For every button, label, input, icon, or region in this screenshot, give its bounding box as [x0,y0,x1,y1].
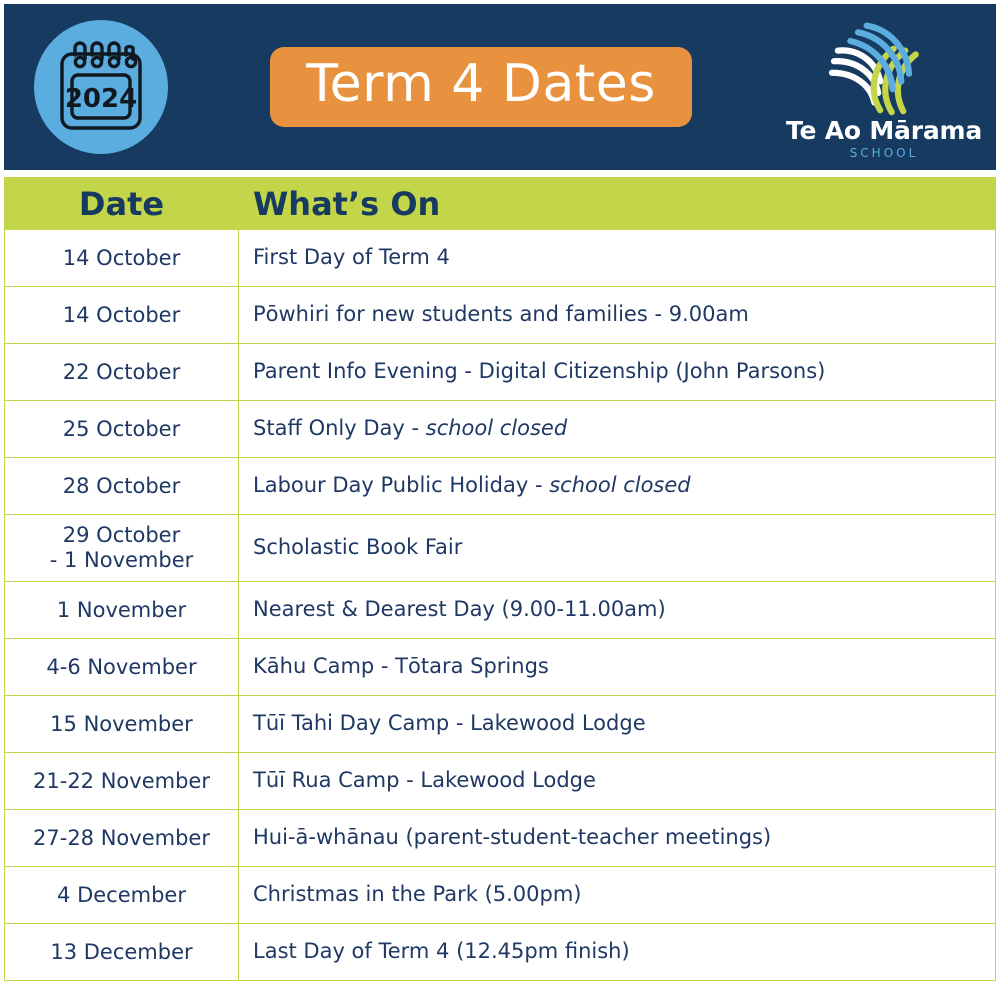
cell-date: 15 November [5,696,239,753]
cell-whats-on: Pōwhiri for new students and families - … [239,287,996,344]
cell-whats-on: Labour Day Public Holiday - school close… [239,458,996,515]
cell-whats-on: Scholastic Book Fair [239,515,996,582]
school-name: Te Ao Mārama [786,118,982,143]
calendar-2024-icon: 2024 [34,20,168,154]
cell-date: 28 October [5,458,239,515]
cell-whats-on: Hui-ā-whānau (parent-student-teacher mee… [239,810,996,867]
table-row: 22 OctoberParent Info Evening - Digital … [5,344,996,401]
poster-header: 2024 Term 4 Dates [4,4,996,170]
table-header-row: Date What’s On [5,178,996,230]
cell-date: 21-22 November [5,753,239,810]
table-row: 14 OctoberFirst Day of Term 4 [5,230,996,287]
cell-date: 13 December [5,924,239,981]
cell-whats-on: Tūī Rua Camp - Lakewood Lodge [239,753,996,810]
cell-date: 14 October [5,230,239,287]
koru-logo-icon [826,16,942,116]
table-row: 21-22 NovemberTūī Rua Camp - Lakewood Lo… [5,753,996,810]
table-row: 29 October- 1 NovemberScholastic Book Fa… [5,515,996,582]
cell-whats-on: Staff Only Day - school closed [239,401,996,458]
calendar-year-label: 2024 [65,84,137,114]
term-dates-table: Date What’s On 14 OctoberFirst Day of Te… [4,177,996,981]
cell-date: 29 October- 1 November [5,515,239,582]
cell-date: 27-28 November [5,810,239,867]
table-row: 14 OctoberPōwhiri for new students and f… [5,287,996,344]
column-header-date: Date [5,178,239,230]
table-body: 14 OctoberFirst Day of Term 414 OctoberP… [5,230,996,981]
term-dates-poster: 2024 Term 4 Dates [0,0,1000,864]
cell-date: 25 October [5,401,239,458]
cell-whats-on: Nearest & Dearest Day (9.00-11.00am) [239,582,996,639]
poster-title-pill: Term 4 Dates [270,47,692,128]
school-logo: Te Ao Mārama SCHOOL [794,16,974,159]
cell-whats-on: Last Day of Term 4 (12.45pm finish) [239,924,996,981]
cell-note: school closed [426,416,567,440]
cell-date: 1 November [5,582,239,639]
cell-date: 22 October [5,344,239,401]
cell-whats-on: Christmas in the Park (5.00pm) [239,867,996,924]
cell-whats-on: Parent Info Evening - Digital Citizenshi… [239,344,996,401]
table-row: 1 NovemberNearest & Dearest Day (9.00-11… [5,582,996,639]
column-header-whats-on: What’s On [239,178,996,230]
calendar-glyph: 2024 [53,37,149,137]
table-row: 28 OctoberLabour Day Public Holiday - sc… [5,458,996,515]
cell-date: 4-6 November [5,639,239,696]
cell-date: 14 October [5,287,239,344]
cell-whats-on: First Day of Term 4 [239,230,996,287]
page-title: Term 4 Dates [306,57,656,112]
cell-whats-on: Kāhu Camp - Tōtara Springs [239,639,996,696]
table-row: 4 DecemberChristmas in the Park (5.00pm) [5,867,996,924]
poster-title-wrap: Term 4 Dates [168,47,794,128]
table-row: 25 OctoberStaff Only Day - school closed [5,401,996,458]
school-subtitle: SCHOOL [850,147,919,159]
table-row: 15 NovemberTūī Tahi Day Camp - Lakewood … [5,696,996,753]
cell-note: school closed [549,473,690,497]
cell-date: 4 December [5,867,239,924]
table-row: 4-6 NovemberKāhu Camp - Tōtara Springs [5,639,996,696]
table-row: 13 DecemberLast Day of Term 4 (12.45pm f… [5,924,996,981]
table-row: 27-28 NovemberHui-ā-whānau (parent-stude… [5,810,996,867]
cell-whats-on: Tūī Tahi Day Camp - Lakewood Lodge [239,696,996,753]
